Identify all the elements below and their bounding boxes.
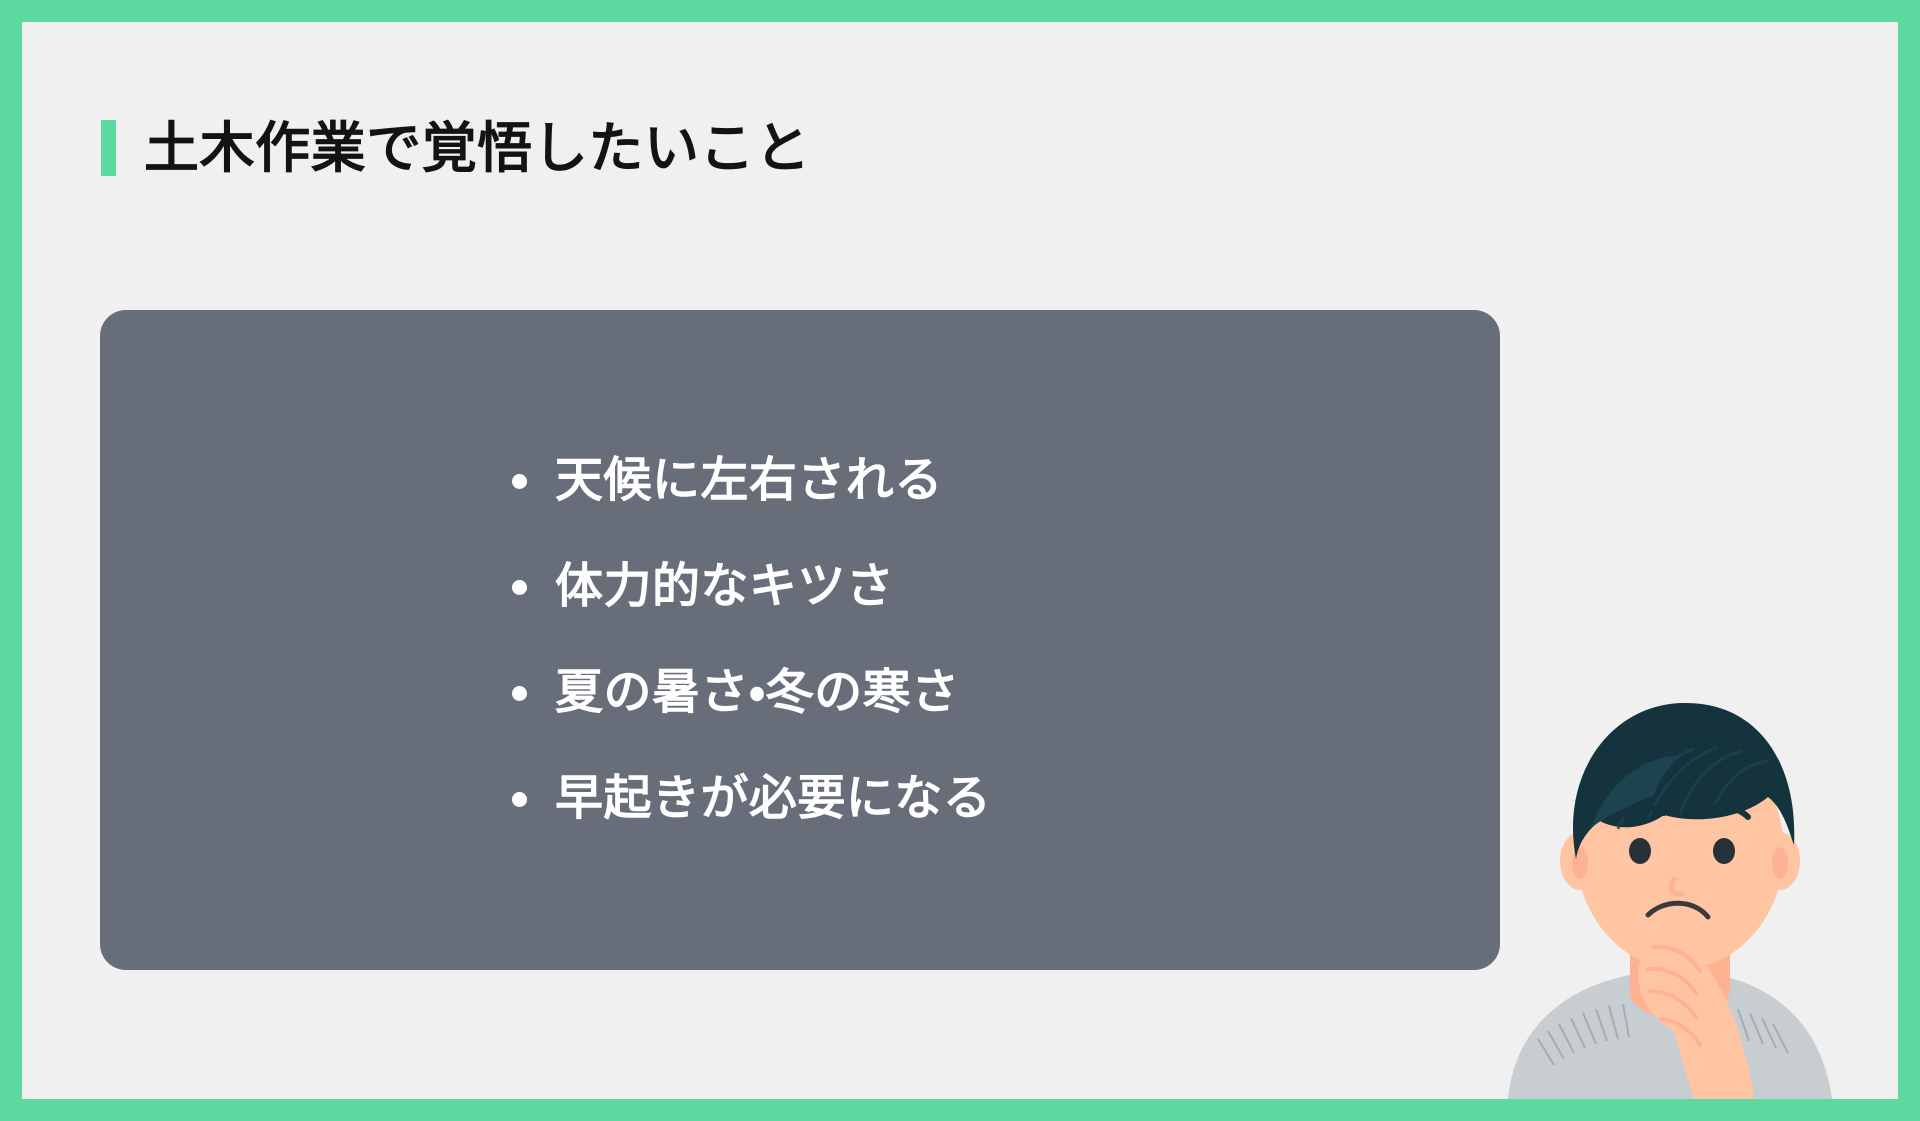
hand-shape — [1638, 930, 1754, 1099]
slide-canvas: 土木作業で覚悟したいこと 天候に左右される 体力的なキツさ 夏の暑さ・冬の寒さ — [22, 22, 1898, 1099]
list-item: 早起きが必要になる — [512, 768, 1500, 830]
bullet-dot-icon — [512, 580, 527, 595]
slide-root: 土木作業で覚悟したいこと 天候に左右される 体力的なキツさ 夏の暑さ・冬の寒さ — [0, 0, 1920, 1121]
title-accent-bar — [101, 120, 116, 176]
sweater-shape — [1508, 971, 1832, 1099]
hair-highlight — [1590, 755, 1682, 829]
ear-inner-right — [1772, 847, 1788, 879]
nose-shape — [1671, 879, 1682, 894]
bullet-dot-icon — [512, 686, 527, 701]
bullet-dot-icon — [512, 474, 527, 489]
bullet-list: 天候に左右される 体力的なキツさ 夏の暑さ・冬の寒さ 早起きが必要になる — [100, 310, 1500, 970]
list-item-label: 体力的なキツさ — [555, 563, 894, 611]
eyebrow-right — [1702, 807, 1748, 817]
thinking-man-illustration — [1468, 679, 1898, 1099]
mouth-shape — [1648, 903, 1708, 917]
face-shape — [1576, 733, 1784, 969]
page-title-row: 土木作業で覚悟したいこと — [101, 120, 811, 176]
ear-left — [1560, 832, 1600, 890]
page-title: 土木作業で覚悟したいこと — [144, 121, 811, 176]
list-item: 天候に左右される — [512, 450, 1500, 512]
list-item-label: 天候に左右される — [555, 457, 943, 505]
hair-strands — [1618, 747, 1768, 829]
list-item: 夏の暑さ・冬の寒さ — [512, 662, 1500, 724]
list-item: 体力的なキツさ — [512, 556, 1500, 618]
list-item-label: 早起きが必要になる — [555, 775, 991, 823]
list-item-label: 夏の暑さ・冬の寒さ — [555, 669, 960, 717]
finger-lines — [1648, 947, 1700, 1045]
eye-right — [1713, 838, 1735, 864]
eye-left — [1629, 838, 1651, 864]
ear-inner-left — [1572, 847, 1588, 879]
ear-right — [1760, 832, 1800, 890]
bullet-dot-icon — [512, 792, 527, 807]
hair-shape — [1573, 703, 1794, 859]
eyebrow-left — [1618, 807, 1664, 817]
content-card: 天候に左右される 体力的なキツさ 夏の暑さ・冬の寒さ 早起きが必要になる — [100, 310, 1500, 970]
collar-ribbing — [1538, 1004, 1788, 1065]
neck-shape — [1630, 929, 1730, 1021]
